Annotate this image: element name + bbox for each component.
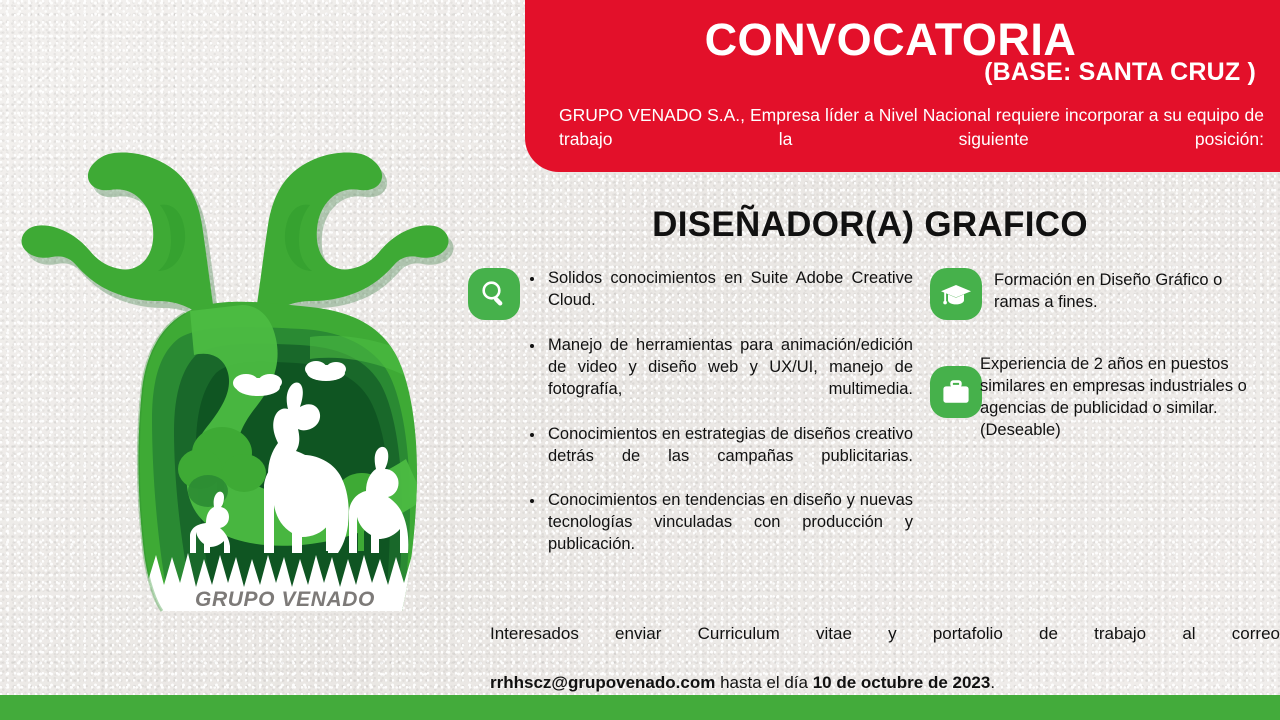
banner-base-location: (BASE: SANTA CRUZ ) (984, 58, 1256, 87)
bottom-green-bar (0, 695, 1280, 720)
qualification-education-text: Formación en Diseño Gráfico o ramas a fi… (994, 268, 1270, 314)
qualification-experience: Experiencia de 2 años en puestos similar… (930, 352, 1270, 442)
list-item: Solidos conocimientos en Suite Adobe Cre… (520, 268, 913, 334)
banner-title: CONVOCATORIA (525, 16, 1256, 63)
footer-period: . (990, 673, 995, 692)
requirements-column: Solidos conocimientos en Suite Adobe Cre… (468, 268, 913, 579)
graduation-cap-icon (930, 268, 982, 320)
logo-caption: GRUPO VENADO (120, 588, 450, 612)
footer-mid-text: hasta el día (715, 673, 812, 692)
poster-canvas: GRUPO VENADO CONVOCATORIA (BASE: SANTA C… (0, 0, 1280, 720)
contact-email[interactable]: rrhhscz@grupovenado.com (490, 673, 715, 692)
footer-line-1: Interesados enviar Curriculum vitae y po… (490, 622, 1280, 671)
search-icon (468, 268, 520, 320)
banner-lead-paragraph: GRUPO VENADO S.A., Empresa líder a Nivel… (559, 104, 1264, 175)
list-item: Conocimientos en tendencias en diseño y … (520, 490, 913, 578)
footer-line-2: rrhhscz@grupovenado.com hasta el día 10 … (490, 671, 1280, 696)
qualification-experience-text: Experiencia de 2 años en puestos similar… (980, 352, 1270, 442)
requirements-list: Solidos conocimientos en Suite Adobe Cre… (520, 268, 913, 579)
qualification-education: Formación en Diseño Gráfico o ramas a fi… (930, 268, 1270, 320)
header-banner: CONVOCATORIA (BASE: SANTA CRUZ ) GRUPO V… (525, 0, 1280, 172)
briefcase-icon (930, 366, 982, 418)
deer-papercut-illustration (10, 55, 460, 615)
deadline-day: 10 de octubre de (813, 673, 953, 692)
requirements-row: Solidos conocimientos en Suite Adobe Cre… (468, 268, 913, 579)
footer-contact: Interesados enviar Curriculum vitae y po… (490, 622, 1280, 696)
list-item: Manejo de herramientas para animación/ed… (520, 335, 913, 423)
job-title: DISEÑADOR(A) GRAFICO (525, 205, 1215, 245)
list-item: Conocimientos en estrategias de diseños … (520, 424, 913, 490)
qualifications-column: Formación en Diseño Gráfico o ramas a fi… (930, 268, 1270, 442)
deadline-year: 2023 (953, 673, 991, 692)
